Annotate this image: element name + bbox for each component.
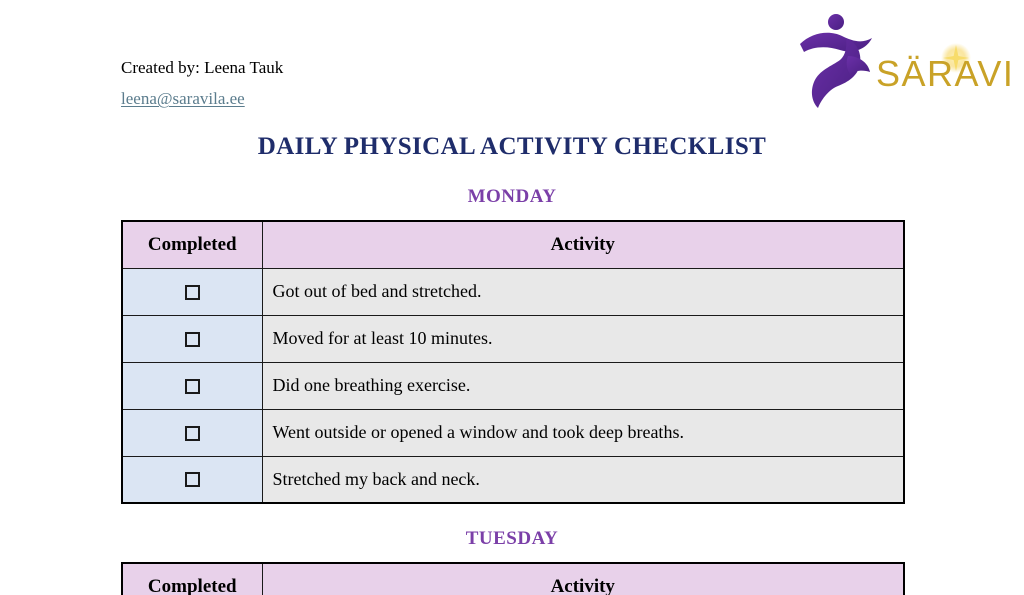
checklist-table-wrapper: CompletedActivity [121,562,903,595]
activity-cell: Did one breathing exercise. [262,362,904,409]
author-email-link[interactable]: leena@saravila.ee [121,86,245,112]
checklist-table: CompletedActivity [121,562,905,595]
author-name-line: Created by: Leena Tauk [121,54,541,82]
day-sections: MONDAYCompletedActivityGot out of bed an… [0,186,1024,595]
column-header-completed: Completed [122,221,262,268]
author-block: Created by: Leena Tauk leena@saravila.ee [121,54,541,112]
table-row: Moved for at least 10 minutes. [122,315,904,362]
completed-cell[interactable] [122,268,262,315]
completed-cell[interactable] [122,315,262,362]
checkbox-empty-icon[interactable] [185,426,200,441]
checkbox-empty-icon[interactable] [185,472,200,487]
completed-cell[interactable] [122,362,262,409]
column-header-completed: Completed [122,563,262,595]
table-row: Did one breathing exercise. [122,362,904,409]
checklist-table: CompletedActivityGot out of bed and stre… [121,220,905,504]
runner-head-icon [828,14,844,30]
table-row: Stretched my back and neck. [122,456,904,503]
activity-cell: Moved for at least 10 minutes. [262,315,904,362]
completed-cell[interactable] [122,409,262,456]
table-row: Got out of bed and stretched. [122,268,904,315]
page-title: DAILY PHYSICAL ACTIVITY CHECKLIST [0,133,1024,161]
completed-cell[interactable] [122,456,262,503]
table-header-row: CompletedActivity [122,563,904,595]
day-heading: TUESDAY [0,528,1024,550]
column-header-activity: Activity [262,563,904,595]
checkbox-empty-icon[interactable] [185,285,200,300]
checklist-table-wrapper: CompletedActivityGot out of bed and stre… [121,220,903,504]
document-page: Created by: Leena Tauk leena@saravila.ee [0,0,1024,595]
logo-svg: SÄRAVILA [790,8,1010,116]
activity-cell: Got out of bed and stretched. [262,268,904,315]
table-header-row: CompletedActivity [122,221,904,268]
activity-cell: Stretched my back and neck. [262,456,904,503]
day-section: MONDAYCompletedActivityGot out of bed an… [0,186,1024,504]
day-heading: MONDAY [0,186,1024,208]
day-section: TUESDAYCompletedActivity [0,528,1024,595]
checkbox-empty-icon[interactable] [185,332,200,347]
table-row: Went outside or opened a window and took… [122,409,904,456]
runner-leg-icon [847,56,870,74]
runner-arms-icon [800,33,872,52]
column-header-activity: Activity [262,221,904,268]
activity-cell: Went outside or opened a window and took… [262,409,904,456]
logo-wordmark: SÄRAVILA [876,53,1010,94]
saravila-logo: SÄRAVILA [790,8,1010,116]
checkbox-empty-icon[interactable] [185,379,200,394]
